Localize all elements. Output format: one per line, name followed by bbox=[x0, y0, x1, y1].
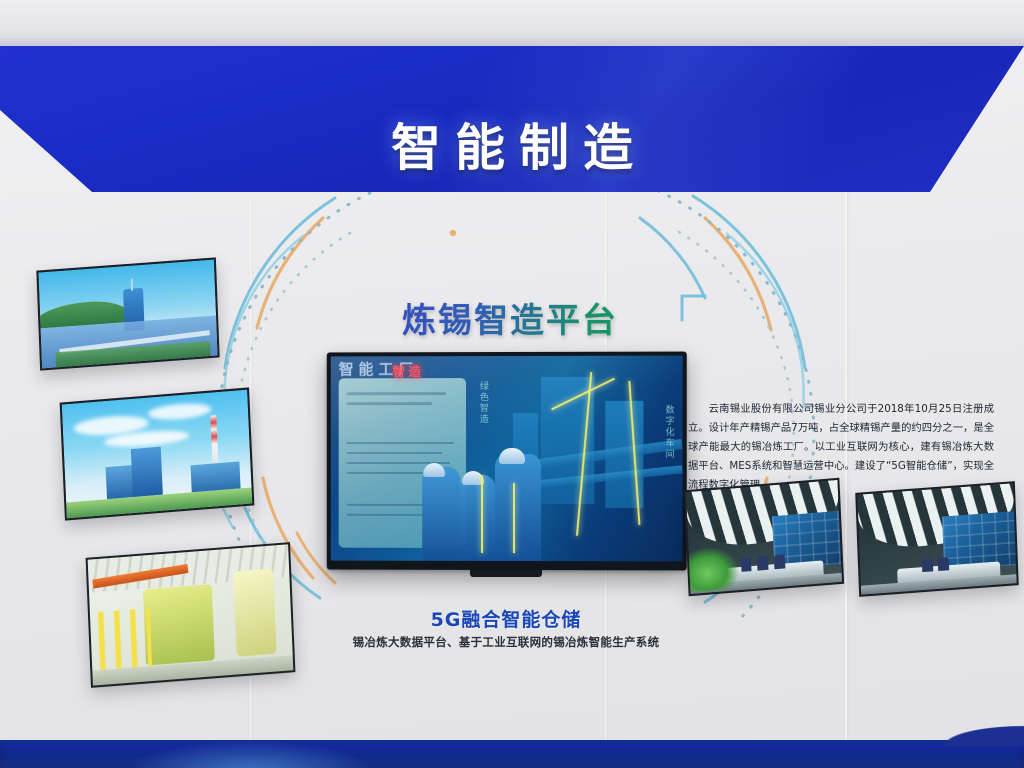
screen-helmet-c bbox=[499, 448, 525, 464]
main-display-screen[interactable]: 智能工厂 智造 数字化车间 绿色智造 bbox=[327, 352, 687, 571]
screen-glow-line-d bbox=[513, 483, 515, 553]
control-room-photo-b[interactable] bbox=[855, 481, 1019, 597]
ceiling-lip bbox=[0, 38, 1024, 47]
floor-corner-curve bbox=[904, 716, 1024, 746]
screen-red-text: 智造 bbox=[392, 361, 424, 380]
screen-glow-line-c bbox=[481, 475, 483, 553]
factory-interior-photo[interactable] bbox=[86, 542, 296, 688]
screen-worker-c bbox=[495, 454, 541, 561]
screen-worker-a bbox=[422, 467, 461, 561]
screen-side-text-left: 绿色智造 bbox=[478, 381, 491, 425]
page-title: 智能制造 bbox=[0, 108, 1024, 180]
platform-title: 炼锡智造平台 bbox=[330, 293, 690, 342]
company-description-text: 云南锡业股份有限公司锡业分公司于2018年10月25日注册成立。设计年产精锡产品… bbox=[688, 400, 994, 495]
exhibition-wall-scene: 智能制造 炼锡智造平台 bbox=[0, 0, 1024, 768]
smelting-plant-photo[interactable] bbox=[60, 387, 255, 520]
caption-sub: 锡冶炼大数据平台、基于工业互联网的锡冶炼智能生产系统 bbox=[306, 634, 706, 650]
tv-screen-content: 智能工厂 智造 数字化车间 绿色智造 bbox=[331, 356, 683, 562]
screen-side-text-right: 数字化车间 bbox=[664, 405, 677, 460]
screen-worker-b bbox=[460, 475, 495, 561]
ceiling-panel bbox=[0, 0, 1024, 42]
caption-main: 5G融合智能仓储 bbox=[326, 605, 686, 632]
aerial-plant-photo[interactable] bbox=[36, 257, 219, 370]
control-room-photo-a[interactable] bbox=[684, 478, 844, 596]
floor-light-reflection bbox=[120, 740, 380, 768]
